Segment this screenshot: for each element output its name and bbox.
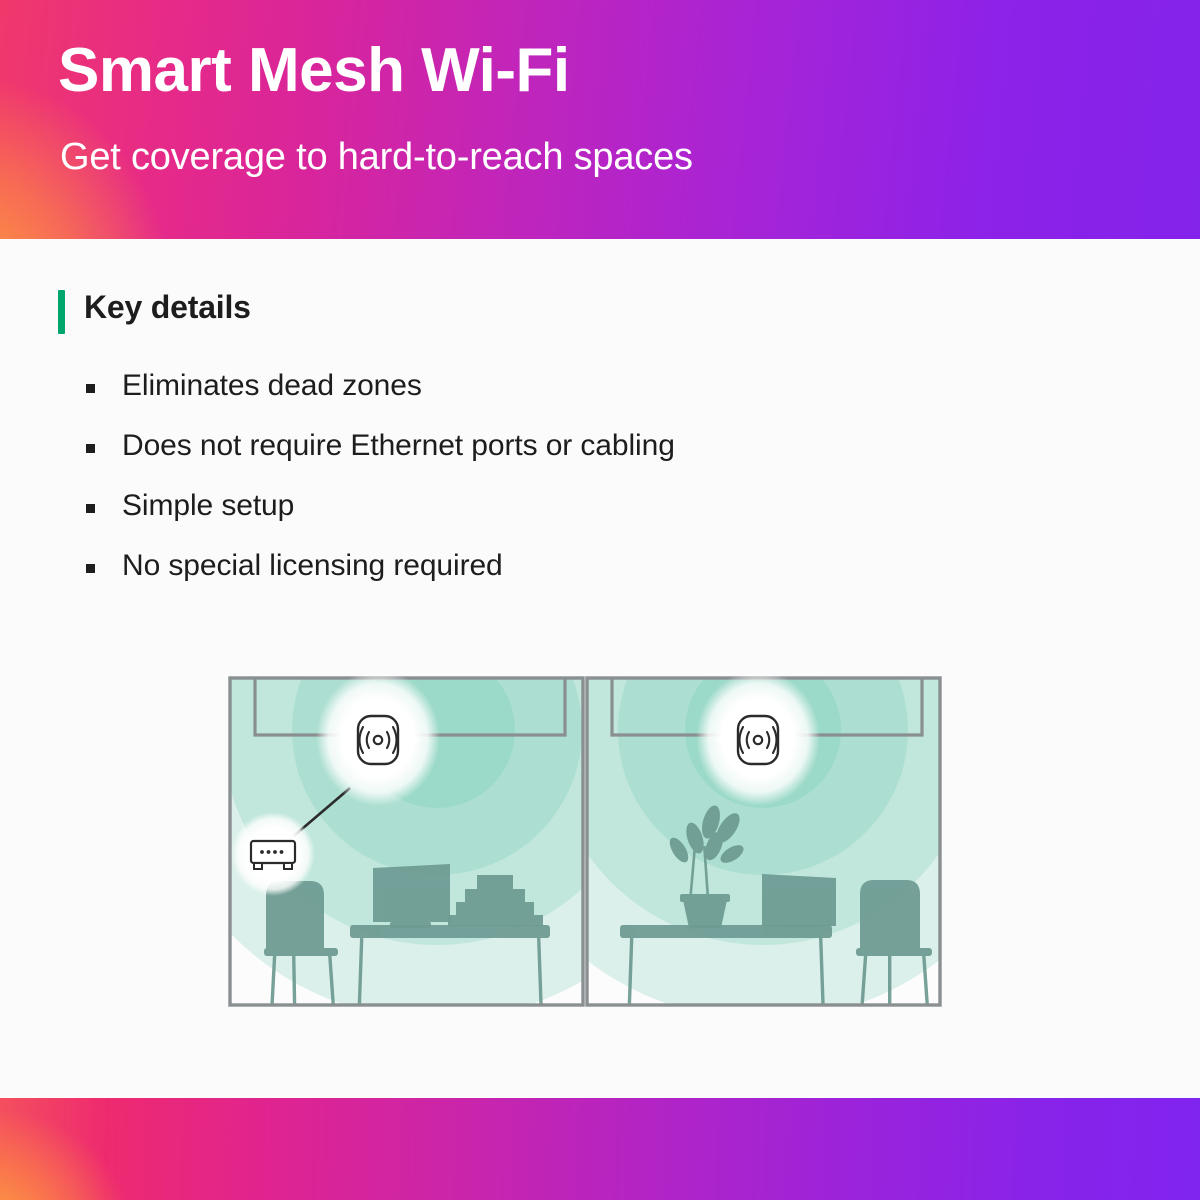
slide-canvas: Smart Mesh Wi-Fi Get coverage to hard-to… <box>0 0 1200 1200</box>
key-details-list: Eliminates dead zones Does not require E… <box>86 356 675 596</box>
page-subtitle: Get coverage to hard-to-reach spaces <box>60 136 693 179</box>
wireless-access-point-icon <box>358 716 398 764</box>
list-item: Simple setup <box>86 476 675 536</box>
right-access-point <box>696 670 820 806</box>
bullet-square-icon <box>86 564 95 573</box>
bullet-square-icon <box>86 384 95 393</box>
list-item: No special licensing required <box>86 536 675 596</box>
page-title: Smart Mesh Wi-Fi <box>58 40 570 102</box>
list-item: Does not require Ethernet ports or cabli… <box>86 416 675 476</box>
list-item: Eliminates dead zones <box>86 356 675 416</box>
monitor-icon <box>762 874 836 927</box>
list-item-label: Simple setup <box>122 489 294 523</box>
wireless-access-point-icon <box>738 716 778 764</box>
monitor-icon <box>373 864 450 928</box>
mesh-coverage-illustration <box>200 650 1000 1030</box>
list-item-label: Does not require Ethernet ports or cabli… <box>122 429 675 463</box>
bullet-square-icon <box>86 504 95 513</box>
bullet-square-icon <box>86 444 95 453</box>
left-access-point <box>316 670 440 806</box>
accent-bar <box>58 290 65 334</box>
key-details-heading: Key details <box>84 289 251 326</box>
header-banner: Smart Mesh Wi-Fi Get coverage to hard-to… <box>0 0 1200 239</box>
router-device <box>231 812 315 896</box>
list-item-label: Eliminates dead zones <box>122 369 422 403</box>
footer-banner <box>0 1098 1200 1200</box>
list-item-label: No special licensing required <box>122 549 503 583</box>
